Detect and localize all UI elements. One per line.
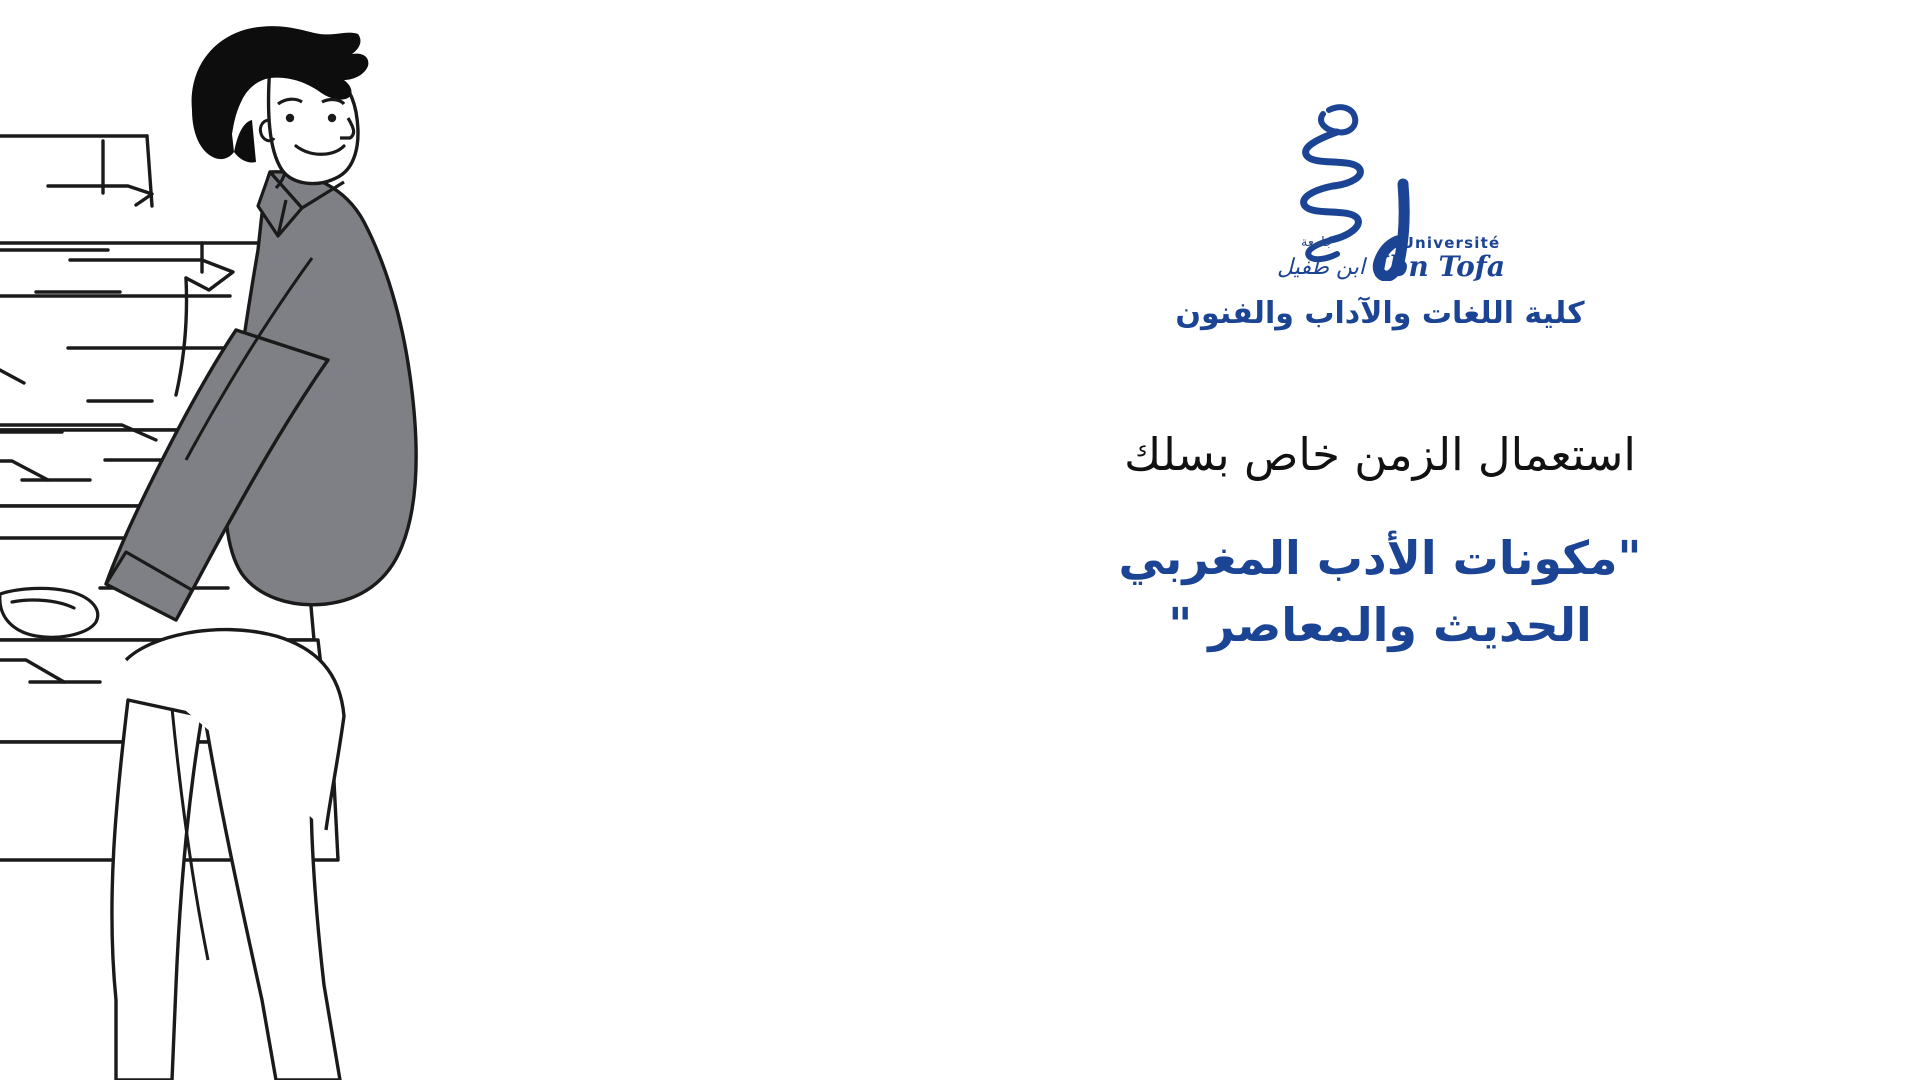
timetable-subtitle: استعمال الزمن خاص بسلك bbox=[1124, 425, 1636, 486]
svg-text:ابن طفيل: ابن طفيل bbox=[1277, 255, 1368, 280]
faculty-name: كلية اللغات والآداب والفنون bbox=[1175, 295, 1584, 333]
ibn-tofail-university-logo-icon: جامعة ابن طفيل Université Ibn Tofaïl bbox=[1255, 96, 1505, 281]
program-title-line-1: "مكونات الأدب المغربي bbox=[1119, 525, 1642, 592]
svg-text:Ibn Tofaïl: Ibn Tofaïl bbox=[1375, 250, 1505, 281]
poster-content: جامعة ابن طفيل Université Ibn Tofaïl كلي… bbox=[900, 0, 1860, 1080]
man-carrying-stack-of-papers-illustration bbox=[0, 0, 500, 1080]
program-title: "مكونات الأدب المغربي الحديث والمعاصر " bbox=[1119, 525, 1642, 658]
poster-canvas: جامعة ابن طفيل Université Ibn Tofaïl كلي… bbox=[0, 0, 1920, 1080]
program-title-line-2: الحديث والمعاصر " bbox=[1119, 592, 1642, 659]
svg-text:جامعة: جامعة bbox=[1301, 235, 1333, 250]
university-logo-block: جامعة ابن طفيل Université Ibn Tofaïl كلي… bbox=[1150, 96, 1610, 333]
